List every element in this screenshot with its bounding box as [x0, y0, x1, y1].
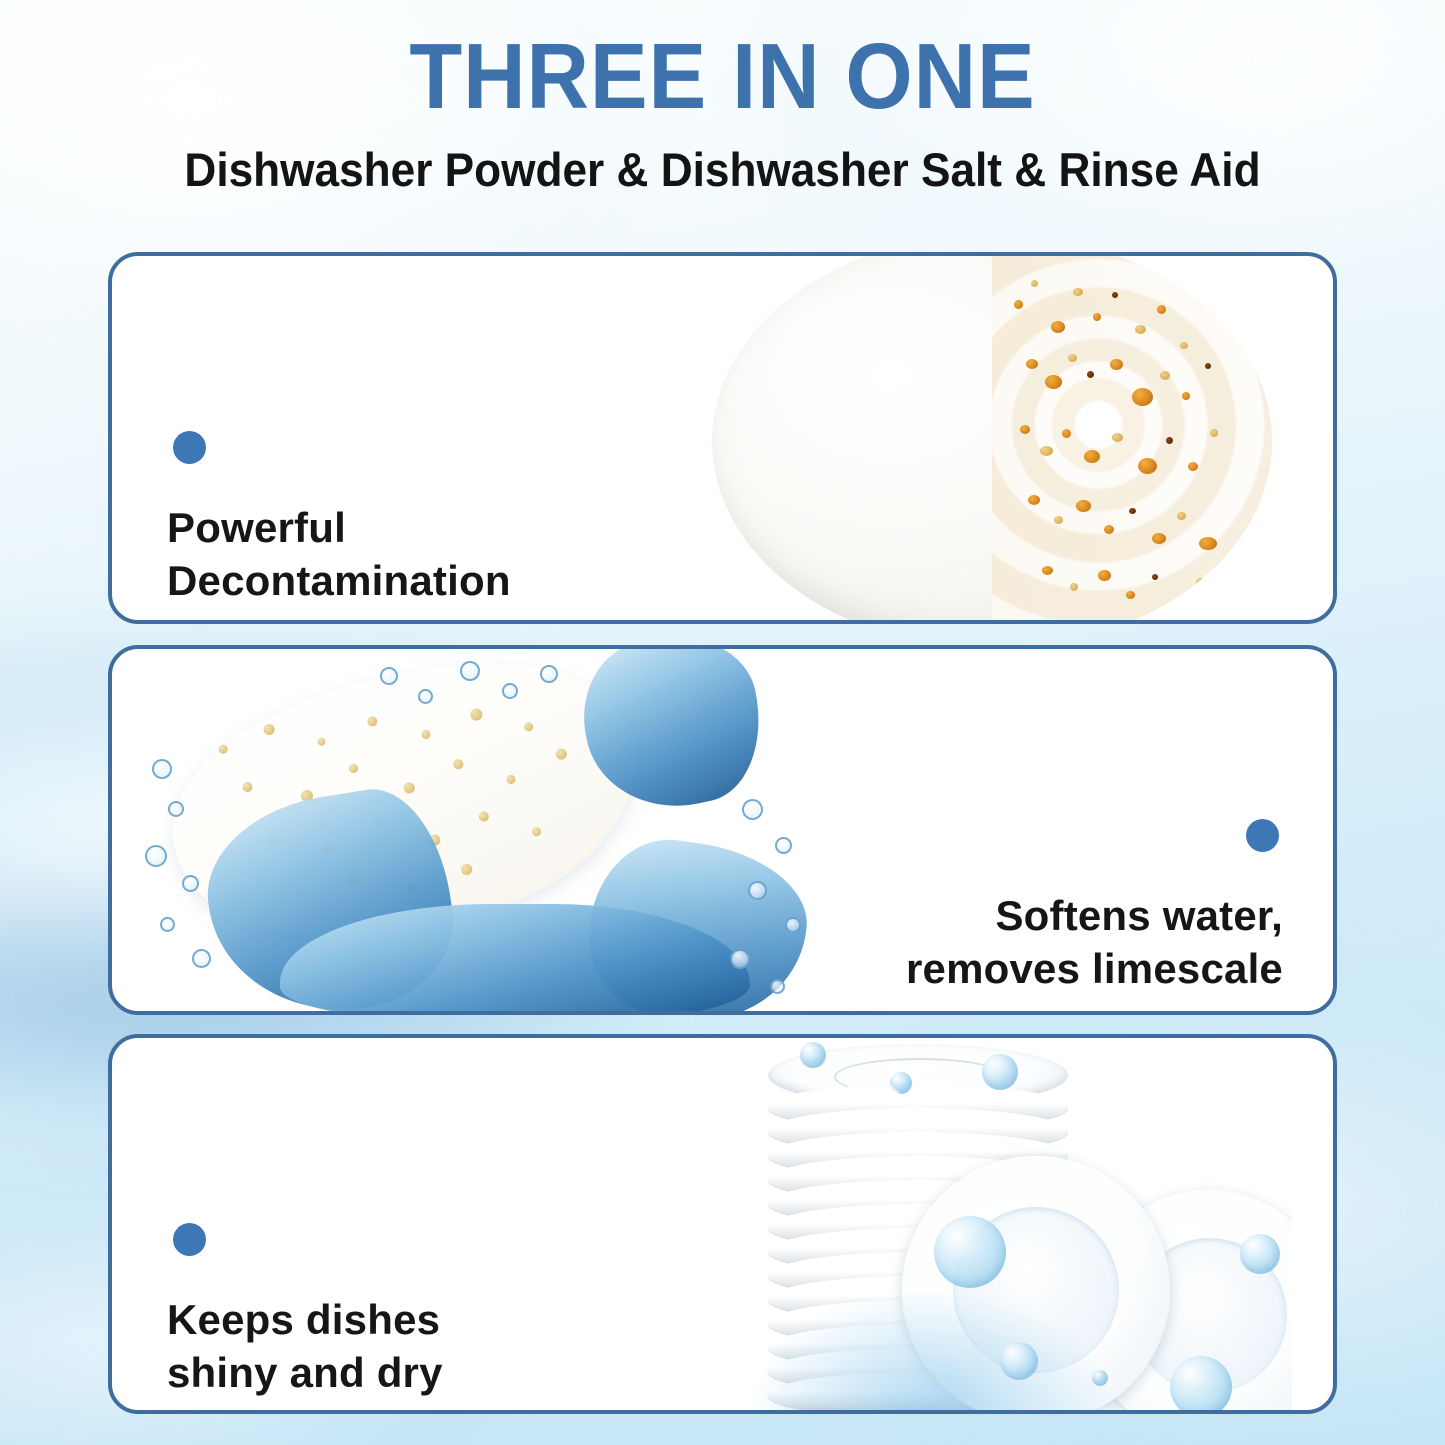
- dirty-clean-plate-comparison-image: [712, 252, 1272, 624]
- page-title: THREE IN ONE: [51, 0, 1395, 126]
- card-2-text-block: Softens water, removes limescale: [906, 819, 1283, 995]
- card-2-caption: Softens water, removes limescale: [906, 890, 1283, 995]
- plate-disc: [712, 252, 1272, 624]
- card-3-text-block: Keeps dishes shiny and dry: [167, 1223, 443, 1399]
- card-1-caption: Powerful Decontamination: [167, 502, 511, 607]
- feature-card-shiny-dishes: Keeps dishes shiny and dry: [108, 1034, 1337, 1414]
- feature-card-decontamination: Powerful Decontamination: [108, 252, 1337, 624]
- dishwasher-powder-water-splash-image: [130, 649, 830, 1011]
- plate-dirty-half: [992, 252, 1272, 624]
- poster-header: THREE IN ONE Dishwasher Powder & Dishwas…: [0, 0, 1445, 195]
- bullet-dot-icon: [173, 431, 206, 464]
- bullet-dot-icon: [1246, 819, 1279, 852]
- card-1-text-block: Powerful Decontamination: [167, 431, 511, 607]
- page-subtitle: Dishwasher Powder & Dishwasher Salt & Ri…: [43, 126, 1401, 196]
- feature-card-water-softening: Softens water, removes limescale: [108, 645, 1337, 1015]
- bullet-dot-icon: [173, 1223, 206, 1256]
- clean-plate-stack-with-bubbles-image: [732, 1038, 1292, 1410]
- dish-glow: [752, 1290, 1112, 1410]
- product-infographic-poster: THREE IN ONE Dishwasher Powder & Dishwas…: [0, 0, 1445, 1445]
- card-3-caption: Keeps dishes shiny and dry: [167, 1294, 443, 1399]
